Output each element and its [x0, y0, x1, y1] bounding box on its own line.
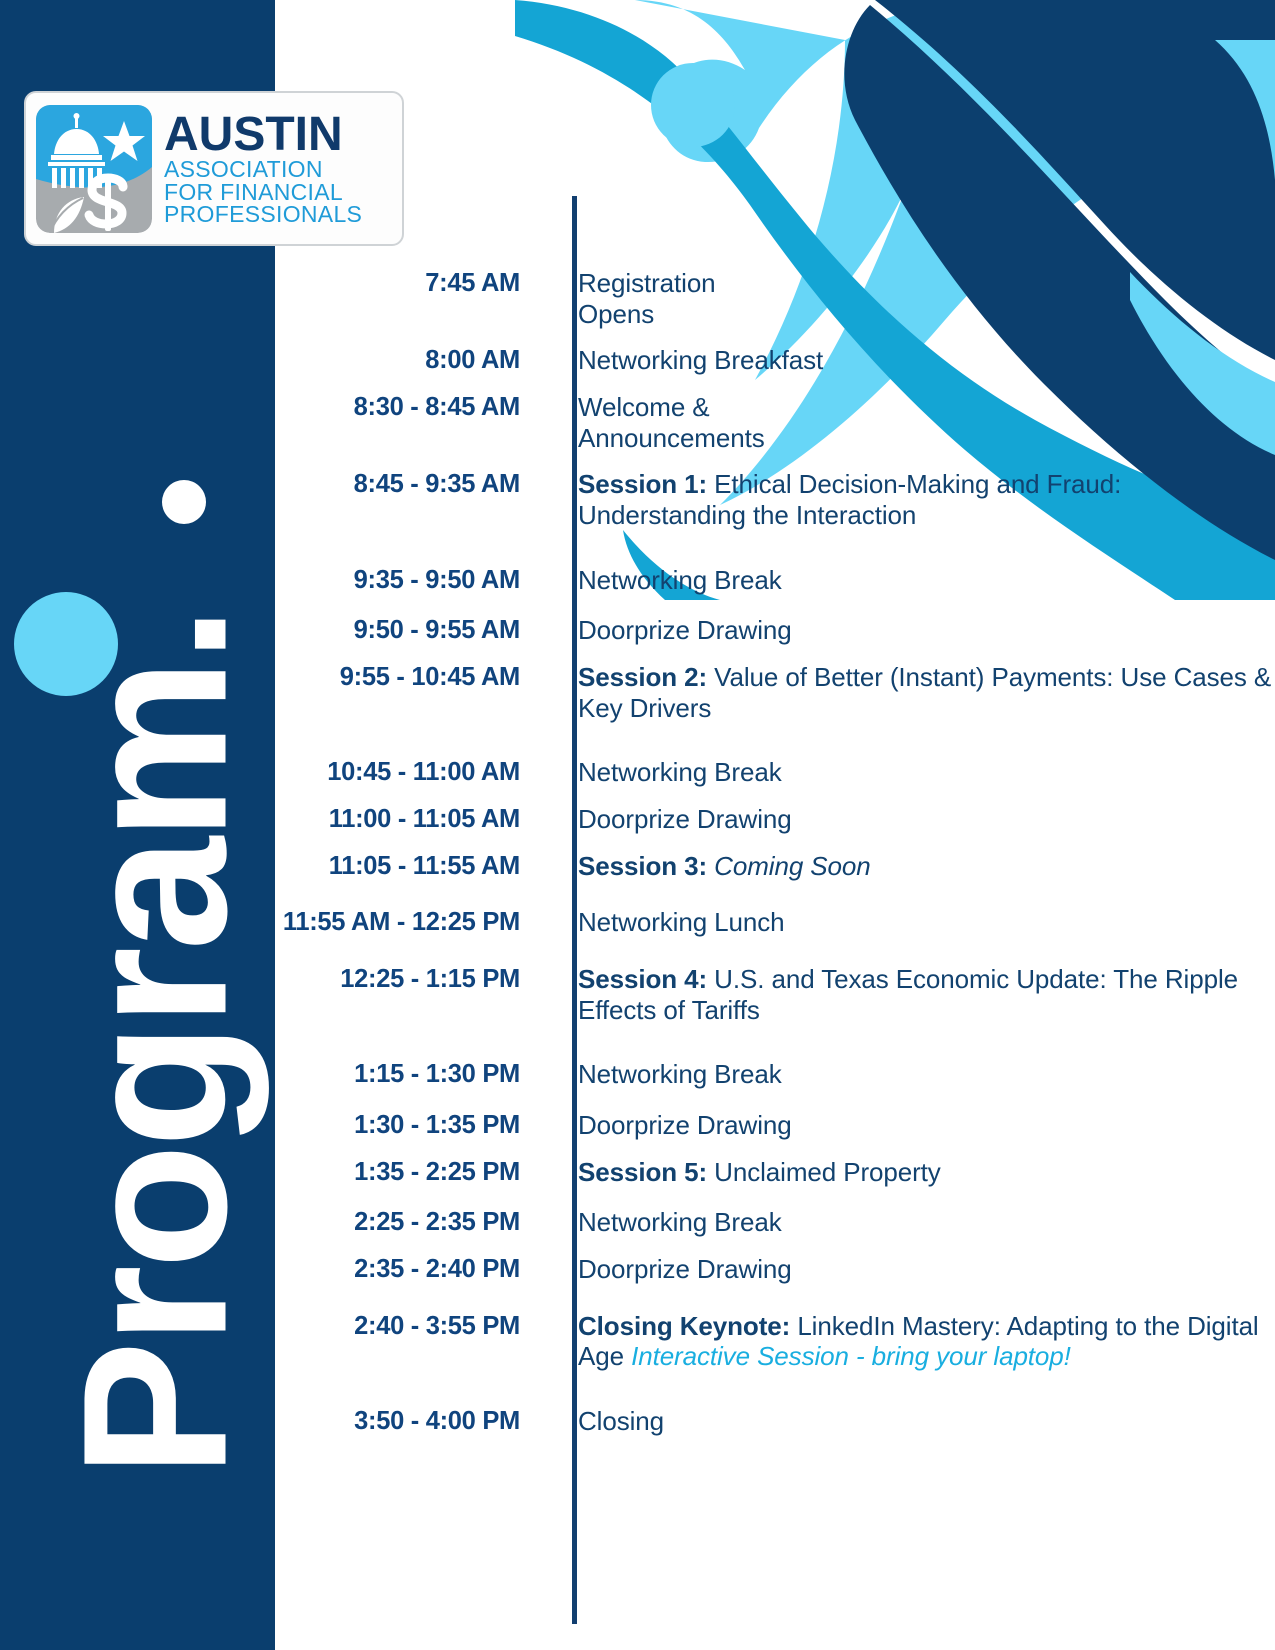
schedule-time: 1:35 - 2:25 PM — [275, 1157, 548, 1187]
page-title: Program. — [53, 138, 258, 1538]
logo-line-1: ASSOCIATION — [164, 158, 362, 180]
schedule-row: 8:00 AMNetworking Breakfast — [275, 345, 1275, 376]
schedule-time: 11:05 - 11:55 AM — [275, 851, 548, 881]
schedule-description: Session 1: Ethical Decision-Making and F… — [548, 469, 1275, 530]
schedule-row: 3:50 - 4:00 PMClosing — [275, 1406, 1275, 1437]
schedule-time: 10:45 - 11:00 AM — [275, 757, 548, 787]
schedule-time: 2:35 - 2:40 PM — [275, 1254, 548, 1284]
schedule-row: 9:35 - 9:50 AMNetworking Break — [275, 565, 1275, 596]
schedule-time: 8:00 AM — [275, 345, 548, 375]
schedule-time: 2:25 - 2:35 PM — [275, 1207, 548, 1237]
schedule-description: Networking Break — [548, 757, 1275, 788]
schedule-description: Networking Breakfast — [548, 345, 1275, 376]
schedule-time: 8:45 - 9:35 AM — [275, 469, 548, 499]
schedule-description: RegistrationOpens — [548, 268, 1275, 329]
logo-line-3: PROFESSIONALS — [164, 203, 362, 225]
schedule-description: Welcome &Announcements — [548, 392, 1275, 453]
schedule-row: 8:30 - 8:45 AMWelcome &Announcements — [275, 392, 1275, 453]
schedule-time: 2:40 - 3:55 PM — [275, 1311, 548, 1341]
sidebar: Program. — [0, 0, 275, 1650]
schedule-description: Session 2: Value of Better (Instant) Pay… — [548, 662, 1275, 723]
schedule-description: Doorprize Drawing — [548, 1254, 1275, 1285]
schedule-description: Session 3: Coming Soon — [548, 851, 1275, 882]
schedule-row: 2:35 - 2:40 PMDoorprize Drawing — [275, 1254, 1275, 1285]
program-flyer: Program. — [0, 0, 1275, 1650]
schedule-time: 8:30 - 8:45 AM — [275, 392, 548, 422]
schedule-row: 11:55 AM - 12:25 PMNetworking Lunch — [275, 907, 1275, 938]
schedule-row: 1:15 - 1:30 PMNetworking Break — [275, 1059, 1275, 1090]
schedule-time: 7:45 AM — [275, 268, 548, 298]
logo-badge-icon — [36, 105, 152, 233]
schedule-time: 12:25 - 1:15 PM — [275, 964, 548, 994]
schedule-row: 8:45 - 9:35 AMSession 1: Ethical Decisio… — [275, 469, 1275, 530]
schedule-row: 12:25 - 1:15 PMSession 4: U.S. and Texas… — [275, 964, 1275, 1025]
schedule-description: Doorprize Drawing — [548, 804, 1275, 835]
schedule-row: 7:45 AMRegistrationOpens — [275, 268, 1275, 329]
schedule-row: 9:55 - 10:45 AMSession 2: Value of Bette… — [275, 662, 1275, 723]
schedule-row: 11:05 - 11:55 AMSession 3: Coming Soon — [275, 851, 1275, 882]
schedule-row: 10:45 - 11:00 AMNetworking Break — [275, 757, 1275, 788]
schedule-description: Closing — [548, 1406, 1275, 1437]
schedule-time: 1:15 - 1:30 PM — [275, 1059, 548, 1089]
schedule-time: 11:00 - 11:05 AM — [275, 804, 548, 834]
schedule-description: Session 4: U.S. and Texas Economic Updat… — [548, 964, 1275, 1025]
schedule-description: Networking Lunch — [548, 907, 1275, 938]
schedule-time: 11:55 AM - 12:25 PM — [275, 907, 548, 937]
schedule-time: 9:55 - 10:45 AM — [275, 662, 548, 692]
schedule-time: 9:50 - 9:55 AM — [275, 615, 548, 645]
schedule-time: 1:30 - 1:35 PM — [275, 1110, 548, 1140]
schedule-description: Networking Break — [548, 565, 1275, 596]
logo-line-2: FOR FINANCIAL — [164, 181, 362, 203]
austin-afp-logo: AUSTIN ASSOCIATION FOR FINANCIAL PROFESS… — [24, 91, 404, 246]
schedule-description: Doorprize Drawing — [548, 1110, 1275, 1141]
schedule-row: 1:30 - 1:35 PMDoorprize Drawing — [275, 1110, 1275, 1141]
schedule-list: 7:45 AMRegistrationOpens8:00 AMNetworkin… — [275, 268, 1275, 1453]
schedule-row: 9:50 - 9:55 AMDoorprize Drawing — [275, 615, 1275, 646]
schedule-time: 9:35 - 9:50 AM — [275, 565, 548, 595]
schedule-row: 1:35 - 2:25 PMSession 5: Unclaimed Prope… — [275, 1157, 1275, 1188]
schedule-description: Networking Break — [548, 1059, 1275, 1090]
schedule-row: 2:25 - 2:35 PMNetworking Break — [275, 1207, 1275, 1238]
schedule-description: Session 5: Unclaimed Property — [548, 1157, 1275, 1188]
schedule-time: 3:50 - 4:00 PM — [275, 1406, 548, 1436]
schedule-row: 2:40 - 3:55 PMClosing Keynote: LinkedIn … — [275, 1311, 1275, 1372]
schedule-row: 11:00 - 11:05 AMDoorprize Drawing — [275, 804, 1275, 835]
schedule-description: Networking Break — [548, 1207, 1275, 1238]
schedule-description: Closing Keynote: LinkedIn Mastery: Adapt… — [548, 1311, 1275, 1372]
schedule-description: Doorprize Drawing — [548, 615, 1275, 646]
logo-austin-text: AUSTIN — [164, 112, 362, 158]
